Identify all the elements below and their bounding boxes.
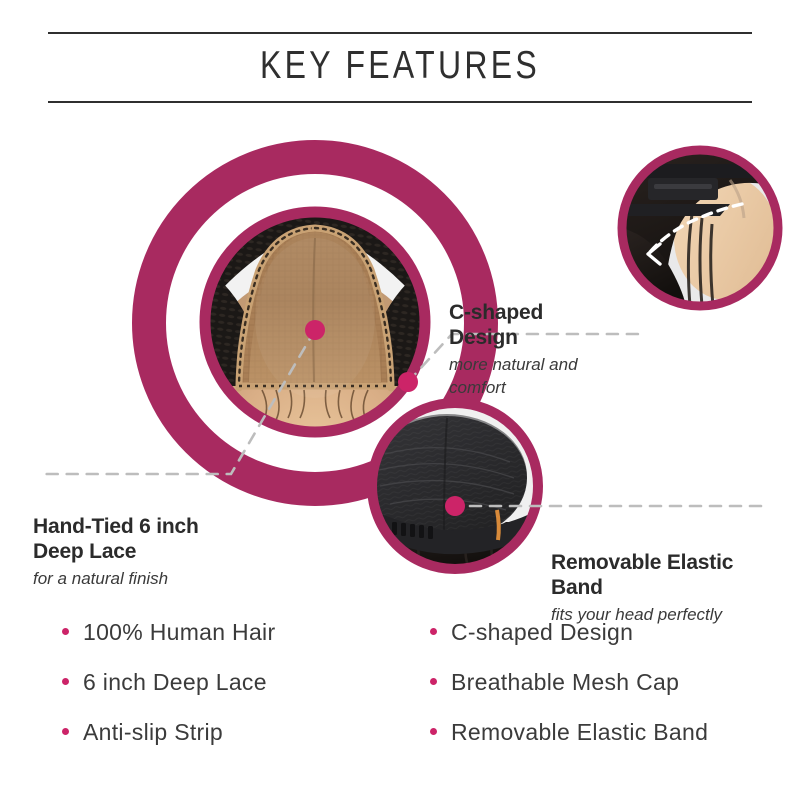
callout-title: Removable Elastic Band — [551, 550, 786, 600]
bullet-label: 100% Human Hair — [83, 618, 275, 646]
marker-dot-hand-tied — [305, 320, 325, 340]
callout-subtitle: more natural and comfort — [449, 353, 624, 399]
list-item: Removable Elastic Band — [430, 718, 708, 768]
bullet-dot-icon — [430, 628, 437, 635]
callout-c-shaped-design: C-shaped Design more natural and comfort — [449, 300, 624, 399]
bullet-label: 6 inch Deep Lace — [83, 668, 267, 696]
title-rule-bottom — [48, 101, 752, 103]
callout-title: C-shaped Design — [449, 300, 624, 350]
page-header: KEY FEATURES — [0, 0, 800, 118]
inset-c-shaped-photo — [622, 150, 778, 306]
marker-dot-c-shaped — [398, 372, 418, 392]
bullet-label: Anti-slip Strip — [83, 718, 223, 746]
inset-elastic-band-photo — [367, 403, 538, 569]
bullet-dot-icon — [62, 628, 69, 635]
list-item: 6 inch Deep Lace — [62, 668, 275, 718]
bullet-dot-icon — [430, 728, 437, 735]
bullet-label: Breathable Mesh Cap — [451, 668, 679, 696]
callout-title: Hand-Tied 6 inch Deep Lace — [33, 514, 268, 564]
callout-subtitle: for a natural finish — [33, 567, 268, 590]
list-item: Breathable Mesh Cap — [430, 668, 708, 718]
list-item: Anti-slip Strip — [62, 718, 275, 768]
bullet-dot-icon — [62, 678, 69, 685]
feature-bullet-lists: 100% Human Hair 6 inch Deep Lace Anti-sl… — [0, 618, 800, 788]
bullet-label: Removable Elastic Band — [451, 718, 708, 746]
callout-removable-elastic-band: Removable Elastic Band fits your head pe… — [551, 550, 786, 626]
bullet-dot-icon — [430, 678, 437, 685]
list-item: C-shaped Design — [430, 618, 708, 668]
page-title: KEY FEATURES — [72, 42, 728, 90]
marker-dot-elastic-band — [445, 496, 465, 516]
bullet-label: C-shaped Design — [451, 618, 633, 646]
list-item: 100% Human Hair — [62, 618, 275, 668]
bullet-column-left: 100% Human Hair 6 inch Deep Lace Anti-sl… — [62, 618, 275, 768]
callout-hand-tied-deep-lace: Hand-Tied 6 inch Deep Lace for a natural… — [33, 514, 268, 590]
feature-graphic: C-shaped Design more natural and comfort… — [0, 118, 800, 598]
title-rule-top — [48, 32, 752, 34]
bullet-column-right: C-shaped Design Breathable Mesh Cap Remo… — [430, 618, 708, 768]
bullet-dot-icon — [62, 728, 69, 735]
